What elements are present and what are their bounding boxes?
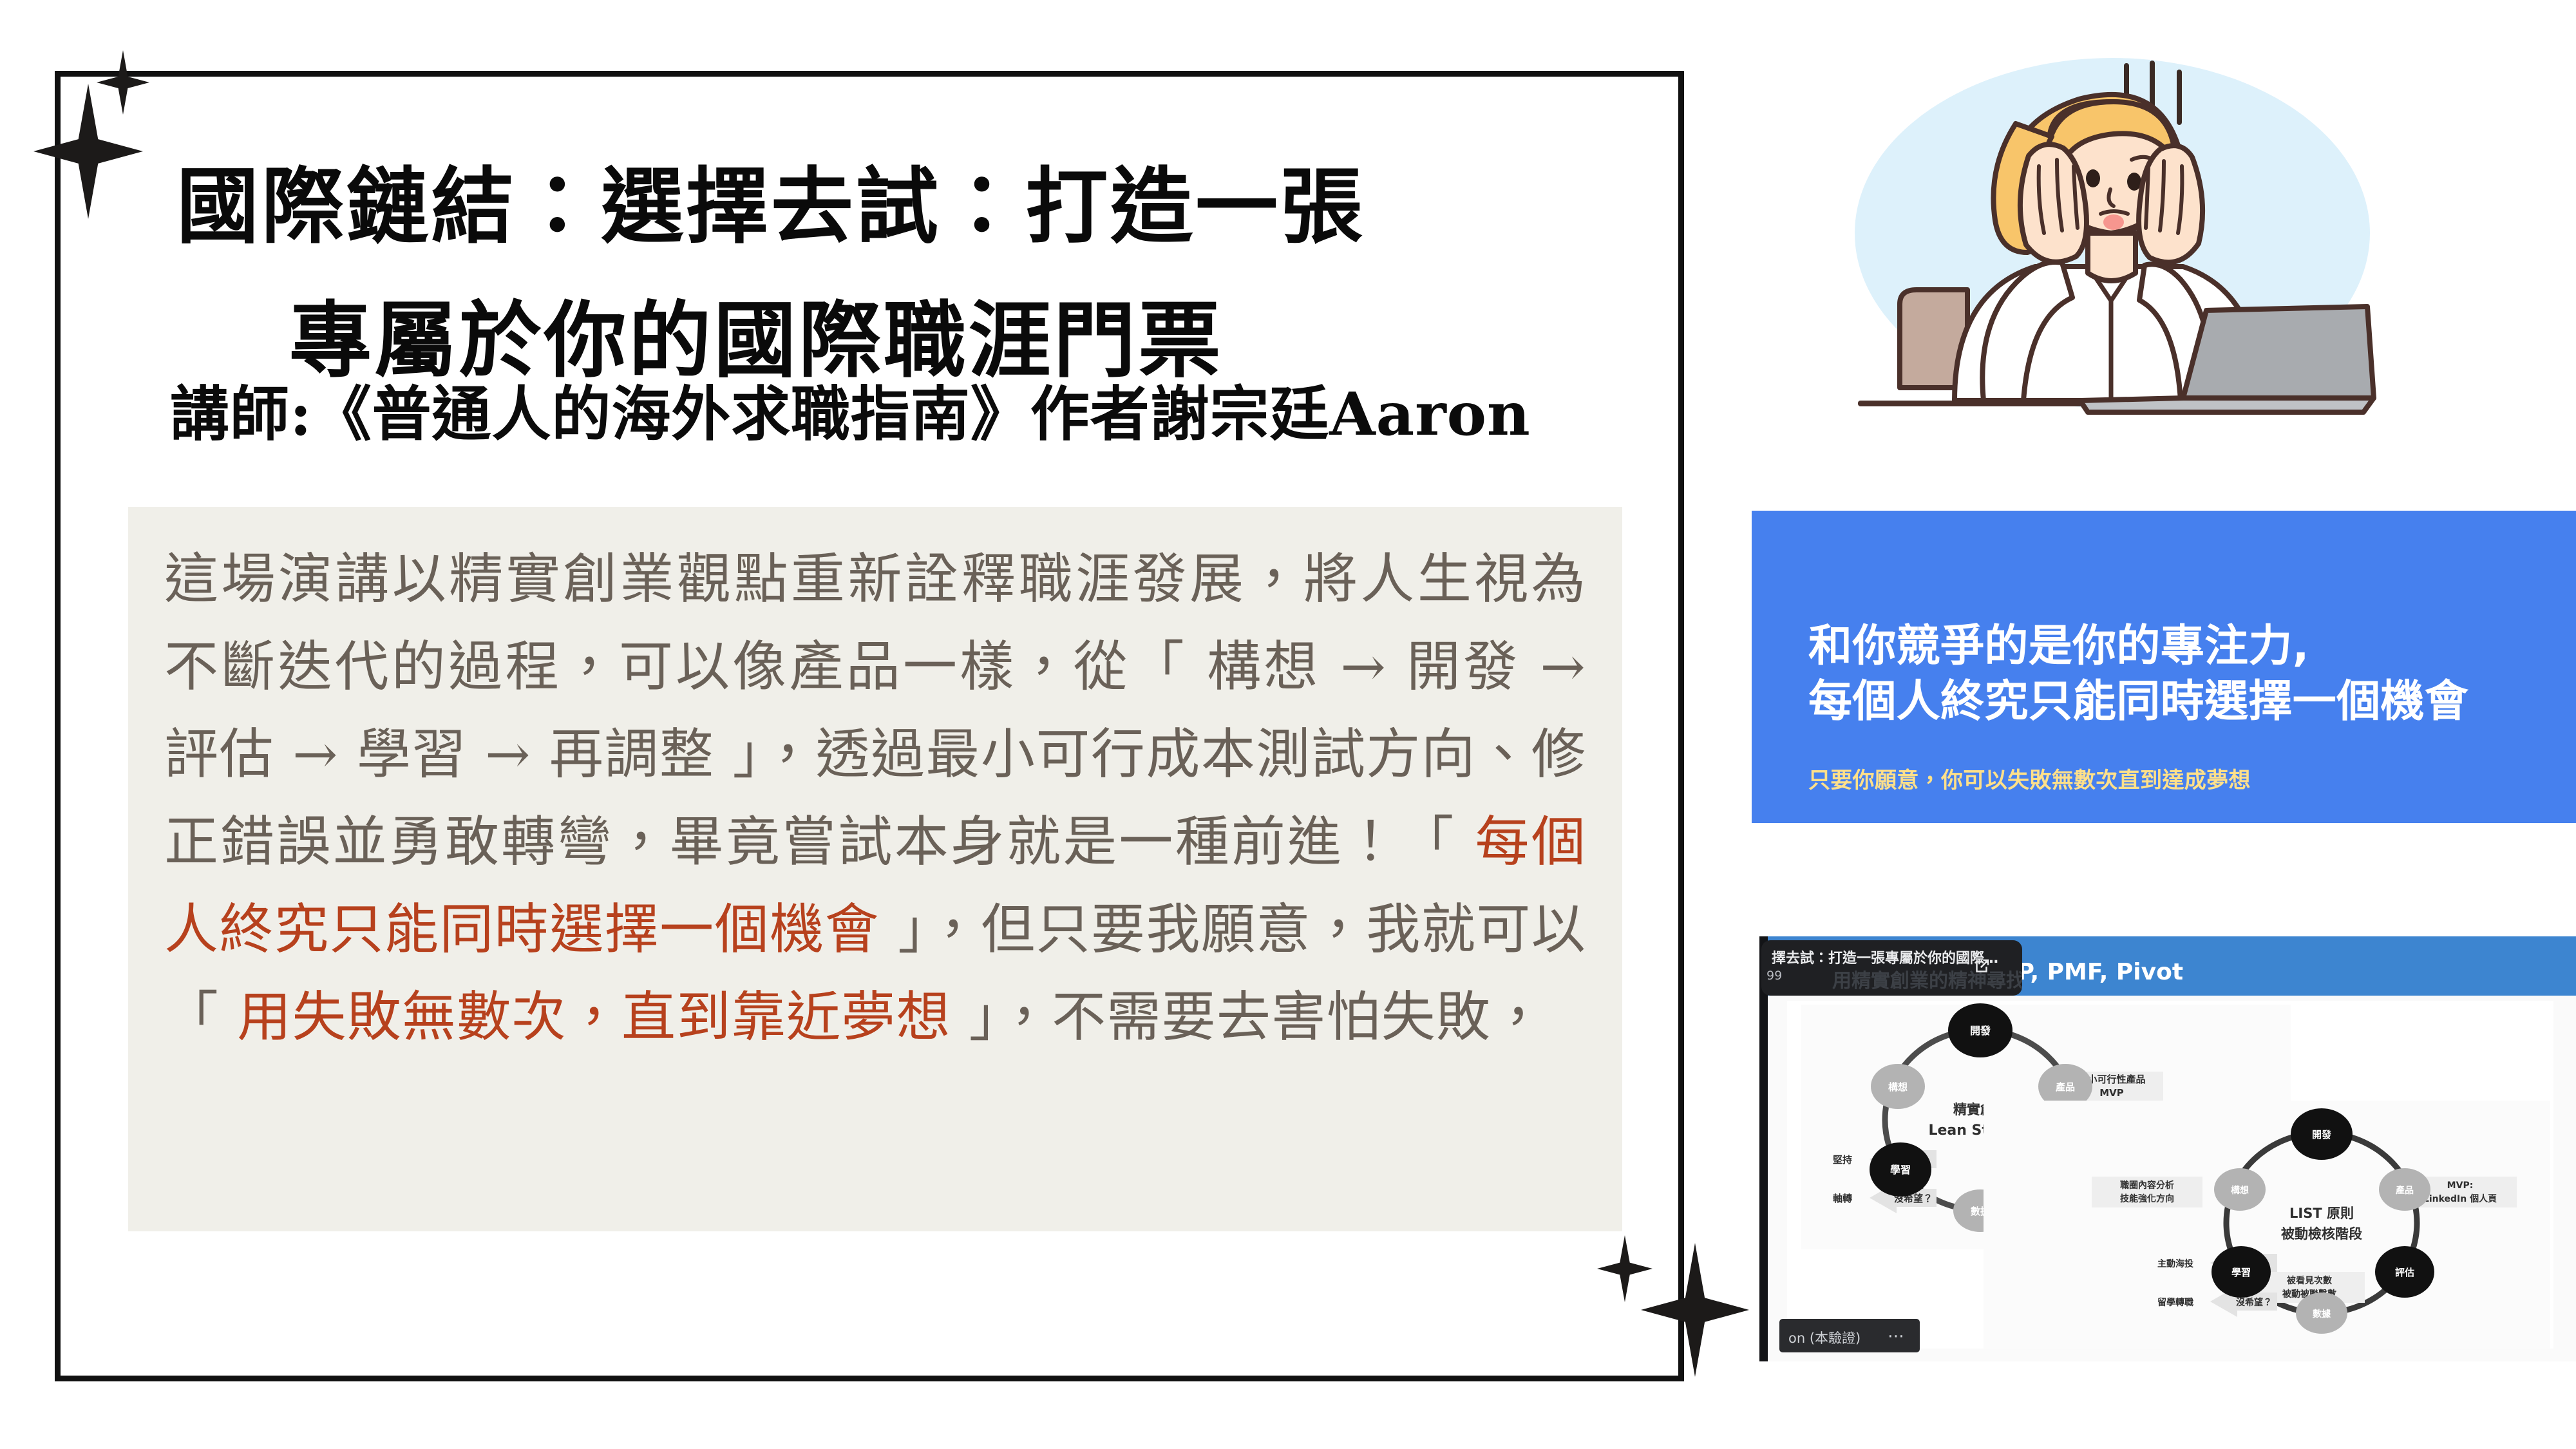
svg-text:被動檢核階段: 被動檢核階段 (2281, 1226, 2362, 1242)
svg-text:MVP:: MVP: (2447, 1180, 2474, 1191)
svg-text:構想: 構想 (1888, 1081, 1908, 1093)
svg-text:軸轉: 軸轉 (1833, 1193, 1852, 1204)
link-preview-tooltip[interactable]: 用精實創業的精神尋找海 擇去試：打造一張專屬於你的國際… 99 (1761, 940, 2022, 996)
svg-text:LIST 原則: LIST 原則 (2289, 1206, 2354, 1221)
tooltip-title: 擇去試：打造一張專屬於你的國際… (1772, 947, 1998, 967)
body-run: 」，不需要去害怕失敗， (951, 985, 1546, 1048)
list-principle-diagram: 職圈內容分析 技能強化方向 MVP: LinkedIn 個人頁 被看見次數 被動… (1984, 1101, 2550, 1349)
banner-headline-line-2: 每個人終究只能同時選擇一個機會 (1808, 674, 2576, 730)
blue-quote-banner: 和你競爭的是你的專注力, 每個人終究只能同時選擇一個機會 只要你願意，你可以失敗… (1752, 511, 2576, 823)
tooltip-meta: 99 (1766, 969, 1782, 983)
svg-text:職圈內容分析: 職圈內容分析 (2120, 1180, 2174, 1191)
svg-text:主動海投: 主動海投 (2157, 1258, 2193, 1269)
ellipsis-icon[interactable]: ⋯ (1888, 1327, 1906, 1346)
svg-text:MVP: MVP (2099, 1087, 2124, 1099)
highlighted-quote: 用失敗無數次，直到靠近夢想 (237, 985, 951, 1048)
svg-text:數據: 數據 (2313, 1309, 2331, 1320)
svg-text:學習: 學習 (1890, 1164, 1911, 1176)
poster-canvas: 國際鏈結：選擇去試：打造一張 專屬於你的國際職涯門票 講師:《普通人的海外求職指… (0, 0, 2576, 1449)
banner-headline-line-1: 和你競爭的是你的專注力, (1808, 619, 2576, 674)
svg-text:被看見次數: 被看見次數 (2287, 1275, 2333, 1286)
tooltip-ghost-text: 用精實創業的精神尋找海 (1832, 965, 2022, 993)
slide-screenshot: 外工作：MVP, PMF, Pivot 用精實創業的精神尋找海 擇去試：打造一張… (1752, 927, 2576, 1378)
description-text: 這場演講以精實創業觀點重新詮釋職涯發展，將人生視為不斷迭代的過程，可以像產品一樣… (164, 535, 1586, 1061)
svg-text:技能強化方向: 技能強化方向 (2120, 1193, 2174, 1204)
svg-text:產品: 產品 (2055, 1081, 2075, 1093)
svg-text:學習: 學習 (2231, 1267, 2251, 1278)
description-box: 這場演講以精實創業觀點重新詮釋職涯發展，將人生視為不斷迭代的過程，可以像產品一樣… (128, 507, 1622, 1231)
svg-text:留學轉職: 留學轉職 (2157, 1297, 2193, 1308)
speaker-subtitle: 講師:《普通人的海外求職指南》作者謝宗廷Aaron (170, 366, 1651, 452)
svg-text:開發: 開發 (2312, 1129, 2332, 1141)
left-content-frame: 國際鏈結：選擇去試：打造一張 專屬於你的國際職涯門票 講師:《普通人的海外求職指… (55, 71, 1684, 1381)
title-line-1: 國際鏈結：選擇去試：打造一張 (157, 147, 1606, 267)
svg-text:沒希望？: 沒希望？ (2236, 1297, 2272, 1308)
svg-text:LinkedIn 個人頁: LinkedIn 個人頁 (2423, 1193, 2497, 1204)
svg-text:構想: 構想 (2231, 1185, 2249, 1196)
svg-text:堅持: 堅持 (1833, 1154, 1852, 1166)
right-media-column: 和你競爭的是你的專注力, 每個人終究只能同時選擇一個機會 只要你願意，你可以失敗… (1752, 0, 2576, 1449)
svg-text:產品: 產品 (2395, 1185, 2414, 1196)
banner-subtext: 只要你願意，你可以失敗無數次直到達成夢想 (1808, 762, 2576, 794)
title-block: 國際鏈結：選擇去試：打造一張 專屬於你的國際職涯門票 (157, 147, 1606, 401)
svg-text:開發: 開發 (1970, 1025, 1991, 1037)
stressed-woman-illustration (1823, 40, 2402, 465)
slide-window: 外工作：MVP, PMF, Pivot 用精實創業的精神尋找海 擇去試：打造一張… (1768, 936, 2576, 1361)
slide-titlebar: 外工作：MVP, PMF, Pivot 用精實創業的精神尋找海 擇去試：打造一張… (1768, 936, 2576, 996)
status-chip-text: on (本驗證) (1788, 1328, 1861, 1347)
slide-diagram-canvas: 最小可行性產品 MVP PMF？ 堅持 沒希望？ 軸轉 開發 (1787, 1001, 2553, 1349)
body-run: 這場演講以精實創業觀點重新詮釋職涯發展，將人生視為不斷迭代的過程，可以像產品一樣… (164, 547, 1586, 873)
svg-text:評估: 評估 (2395, 1267, 2414, 1278)
slide-status-chip[interactable]: on (本驗證) ⋯ (1779, 1319, 1920, 1352)
slide-left-dark-edge (1759, 936, 1768, 1361)
external-link-icon[interactable] (1972, 957, 1991, 976)
